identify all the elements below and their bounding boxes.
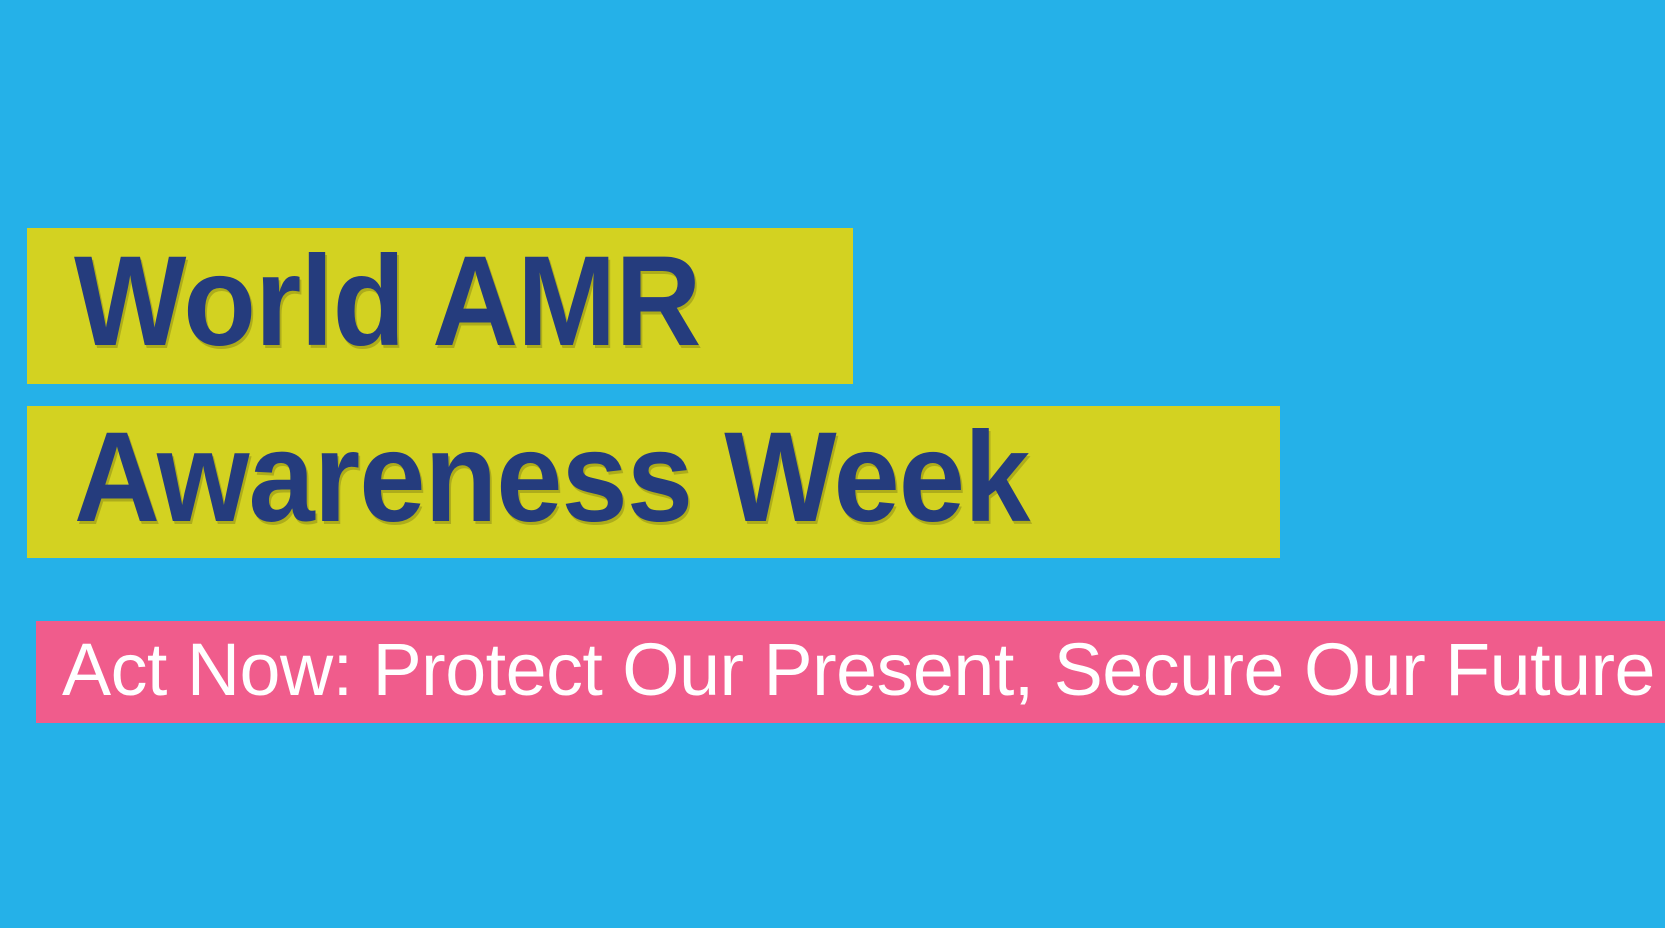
subtitle-band: Act Now: Protect Our Present, Secure Our… — [36, 621, 1665, 723]
subtitle-text: Act Now: Protect Our Present, Secure Our… — [62, 633, 1655, 707]
headline-line1: World AMR — [74, 238, 700, 366]
headline-line2: Awareness Week — [74, 414, 1029, 542]
poster-canvas: World AMR Awareness Week Act Now: Protec… — [0, 0, 1665, 928]
headline-band-line2: Awareness Week — [27, 406, 1280, 558]
headline-band-line1: World AMR — [27, 228, 853, 384]
